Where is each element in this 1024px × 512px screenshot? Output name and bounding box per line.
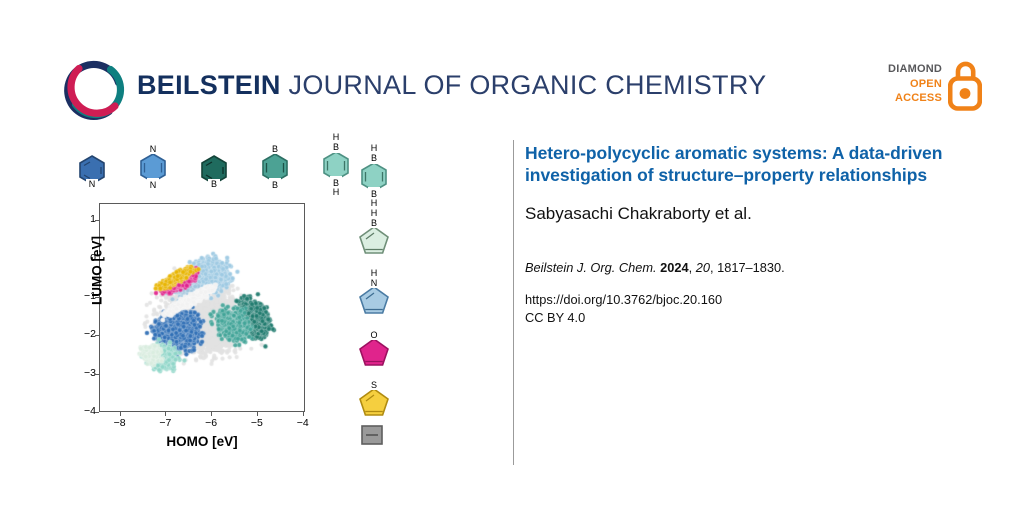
x-tick-mark [257,412,258,416]
svg-text:S: S [371,380,377,390]
open-access-lock-icon [948,59,982,111]
svg-text:H: H [371,268,378,278]
graphical-abstract-page: BEILSTEIN JOURNAL OF ORGANIC CHEMISTRY D… [0,0,1024,512]
x-tick-label: −8 [100,417,140,429]
y-tick-label: −4 [56,405,96,417]
furan-pentagon: O [358,328,390,368]
citation-journal: Beilstein J. Org. Chem. [525,260,657,275]
citation-comma1: , [689,260,693,275]
pyrazine-hexagon: N N [136,142,170,190]
x-tick-label: −7 [145,417,185,429]
x-tick-label: −5 [237,417,277,429]
open-access-badge: DIAMOND OPEN ACCESS [866,58,982,120]
journal-title-bold: BEILSTEIN [137,70,281,100]
svg-text:O: O [370,330,377,340]
scatter-canvas [100,204,305,412]
svg-text:H: H [333,187,340,197]
x-tick-mark [165,412,166,416]
beilstein-swirl-logo [57,52,133,128]
oa-line-diamond: DIAMOND [866,62,942,77]
svg-text:N: N [150,144,157,154]
svg-text:B: B [371,153,377,163]
doi-link[interactable]: https://doi.org/10.3762/bjoc.20.160 [525,291,980,309]
borabenzene-hexagon: B [197,148,231,188]
benzene-square [360,424,384,446]
page-title: Hetero-polycyclic aromatic systems: A da… [525,142,980,186]
article-info-panel: Hetero-polycyclic aromatic systems: A da… [525,142,980,326]
dihydrodiborine-hexagon: B B H H [319,133,353,195]
x-tick-mark [120,412,121,416]
x-tick-label: −4 [283,417,323,429]
svg-text:N: N [371,278,378,288]
oa-line-open: OPEN [866,77,942,92]
svg-text:B: B [333,142,339,152]
open-access-text: DIAMOND OPEN ACCESS [866,62,942,106]
svg-text:N: N [89,179,96,189]
article-authors: Sabyasachi Chakraborty et al. [525,204,980,224]
article-citation: Beilstein J. Org. Chem. 2024, 20, 1817–1… [525,260,980,275]
svg-text:H: H [333,132,340,142]
molecule-legend-column: B B H H B H [354,142,398,432]
dihydrodiborine-hexagon-col: B B H H [357,144,391,206]
citation-comma2: , [710,260,714,275]
svg-text:B: B [211,179,217,189]
y-tick-label: −3 [56,367,96,379]
y-axis-label: LUMO [eV] [90,211,105,331]
hexagon-legend-row: N N N [75,142,365,192]
pyrrole-pentagon: N H [358,268,390,316]
plot-axes-frame [99,203,305,412]
homo-lumo-scatter-plot: 10−1−2−3−4−8−7−6−5−4 LUMO [eV] HOMO [eV] [99,203,307,414]
graphical-abstract-figure: N N N [30,138,490,468]
citation-pages: 1817–1830. [717,260,785,275]
citation-year: 2024 [660,260,688,275]
borole-pentagon: B H [358,208,390,256]
x-tick-mark [211,412,212,416]
svg-text:B: B [272,144,278,154]
oa-line-access: ACCESS [866,91,942,106]
y-tick-mark [95,374,99,375]
x-tick-mark [303,412,304,416]
y-tick-mark [95,412,99,413]
journal-title-rest: JOURNAL OF ORGANIC CHEMISTRY [281,70,767,100]
svg-text:N: N [150,180,157,190]
license-label: CC BY 4.0 [525,309,980,327]
thiophene-pentagon: S [358,378,390,418]
article-doi-block: https://doi.org/10.3762/bjoc.20.160 CC B… [525,291,980,326]
y-tick-mark [95,335,99,336]
svg-text:H: H [371,143,378,153]
svg-text:H: H [371,198,378,208]
journal-title: BEILSTEIN JOURNAL OF ORGANIC CHEMISTRY [137,70,766,101]
svg-text:B: B [371,218,377,228]
svg-text:B: B [272,180,278,190]
panel-divider [513,140,514,465]
journal-header: BEILSTEIN JOURNAL OF ORGANIC CHEMISTRY D… [0,0,1024,130]
svg-text:H: H [371,208,378,218]
x-tick-label: −6 [191,417,231,429]
diborabenzene-hexagon: B B [258,142,292,190]
citation-volume: 20 [696,260,710,275]
x-axis-label: HOMO [eV] [99,434,305,449]
pyridine-hexagon: N [75,148,109,188]
